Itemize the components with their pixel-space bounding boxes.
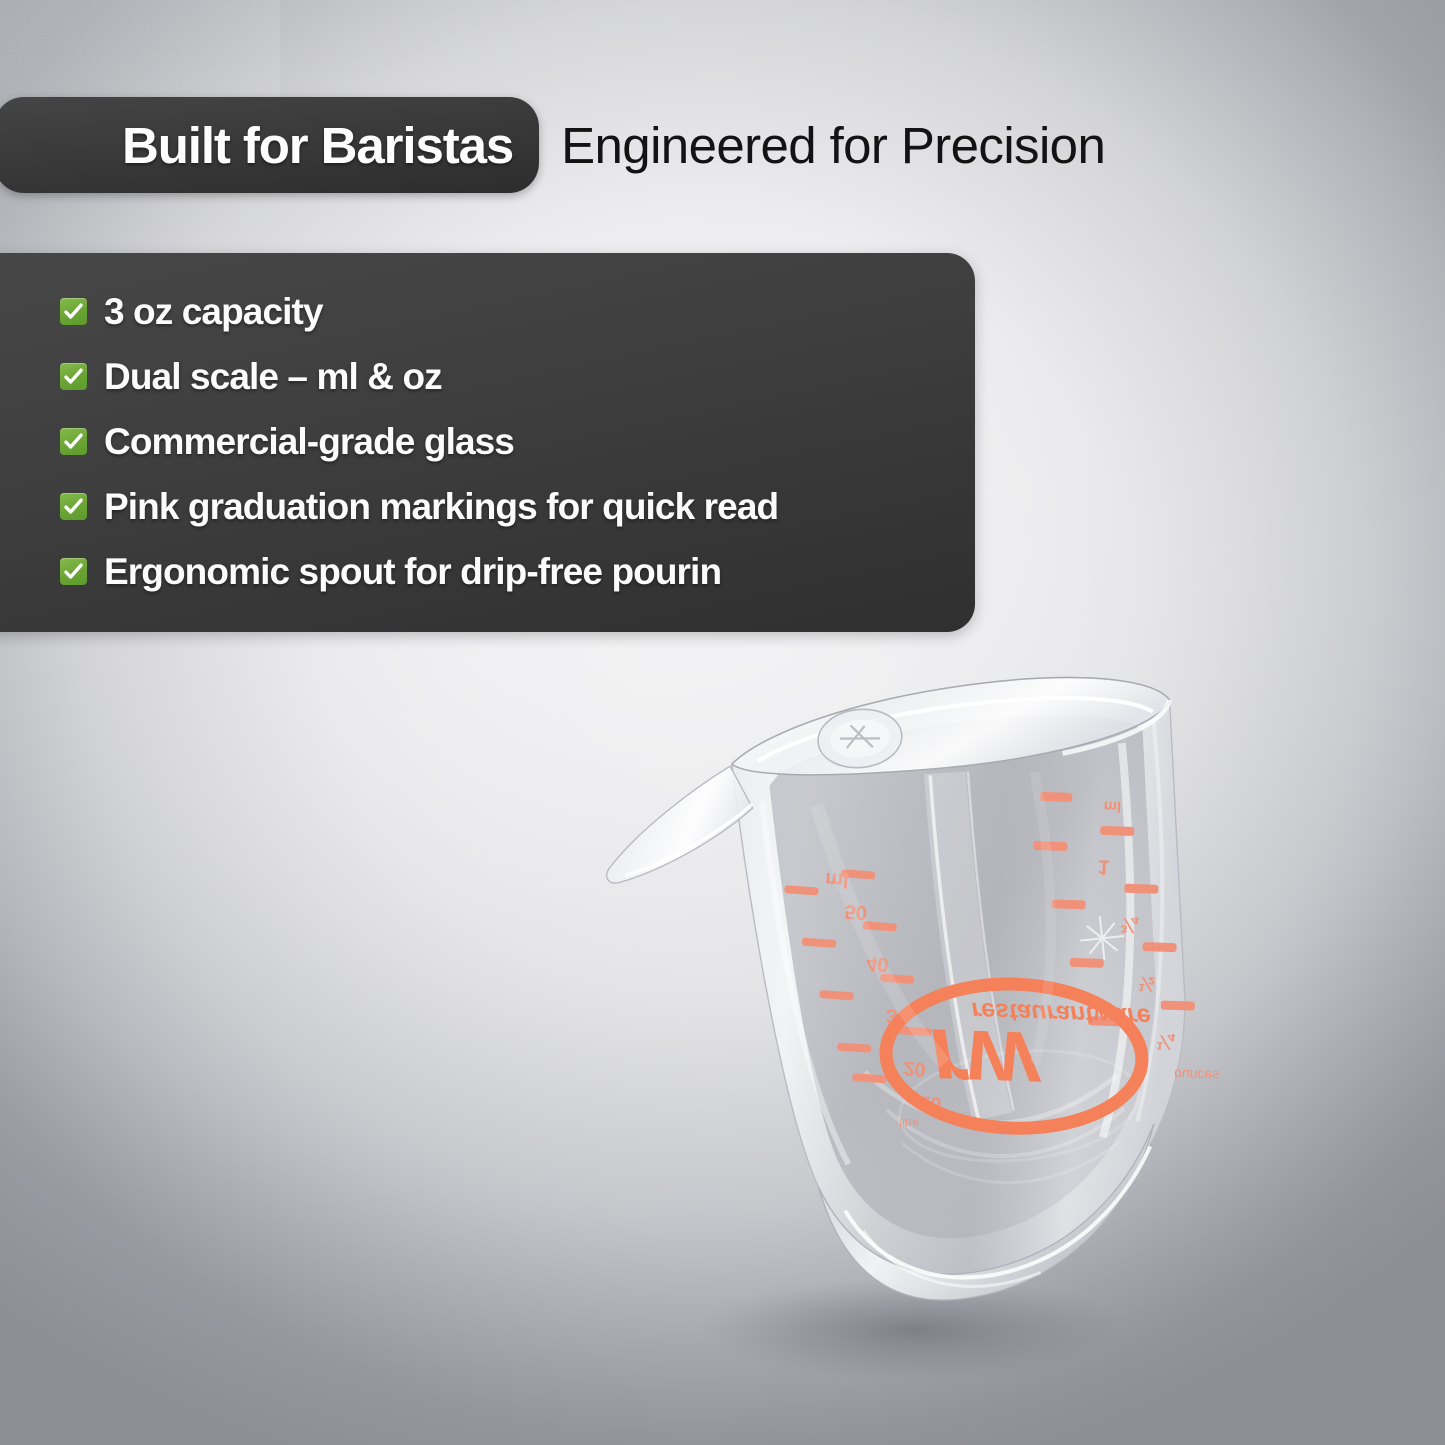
feature-item: Dual scale – ml & oz bbox=[60, 344, 935, 409]
svg-text:ml: ml bbox=[1103, 797, 1121, 815]
cup-body: ml 50 40 30 20 bbox=[591, 663, 1241, 1332]
headline-rest-text: Engineered for Precision bbox=[561, 116, 1105, 175]
feature-item-label: Commercial-grade glass bbox=[104, 421, 514, 463]
feature-item-label: 3 oz capacity bbox=[104, 291, 323, 333]
check-icon bbox=[60, 493, 87, 520]
product-image-glass-measuring-cup: ml 50 40 30 20 bbox=[585, 595, 1265, 1385]
check-icon bbox=[60, 558, 87, 585]
scale-tick-label-ml: 20 bbox=[903, 1057, 927, 1080]
feature-item-label: Ergonomic spout for drip-free pourin bbox=[104, 551, 721, 593]
headline-emphasis-text: Built for Baristas bbox=[122, 116, 513, 175]
feature-list-panel: 3 oz capacity Dual scale – ml & oz Comme… bbox=[0, 253, 975, 632]
promo-image-canvas: Built for Baristas Engineered for Precis… bbox=[0, 0, 1445, 1445]
headline: Built for Baristas Engineered for Precis… bbox=[0, 97, 1105, 193]
check-icon bbox=[60, 298, 87, 325]
check-icon bbox=[60, 363, 87, 390]
headline-emphasis-pill: Built for Baristas bbox=[0, 97, 539, 193]
feature-item: 3 oz capacity bbox=[60, 279, 935, 344]
scale-unit-label-oz: ounces bbox=[1174, 1066, 1220, 1084]
check-icon bbox=[60, 428, 87, 455]
feature-item-label: Pink graduation markings for quick read bbox=[104, 486, 778, 528]
scale-sub-label: litre bbox=[899, 1115, 920, 1130]
scale-tick-label-oz: 1 bbox=[1097, 855, 1110, 878]
feature-item: Pink graduation markings for quick read bbox=[60, 474, 935, 539]
feature-item-label: Dual scale – ml & oz bbox=[104, 356, 442, 398]
scale-tick-label-oz: ½ bbox=[1138, 972, 1156, 996]
feature-item: Commercial-grade glass bbox=[60, 409, 935, 474]
scale-tick-label-oz: ¾ bbox=[1120, 913, 1140, 937]
scale-tick-label-oz: ¼ bbox=[1156, 1030, 1176, 1054]
